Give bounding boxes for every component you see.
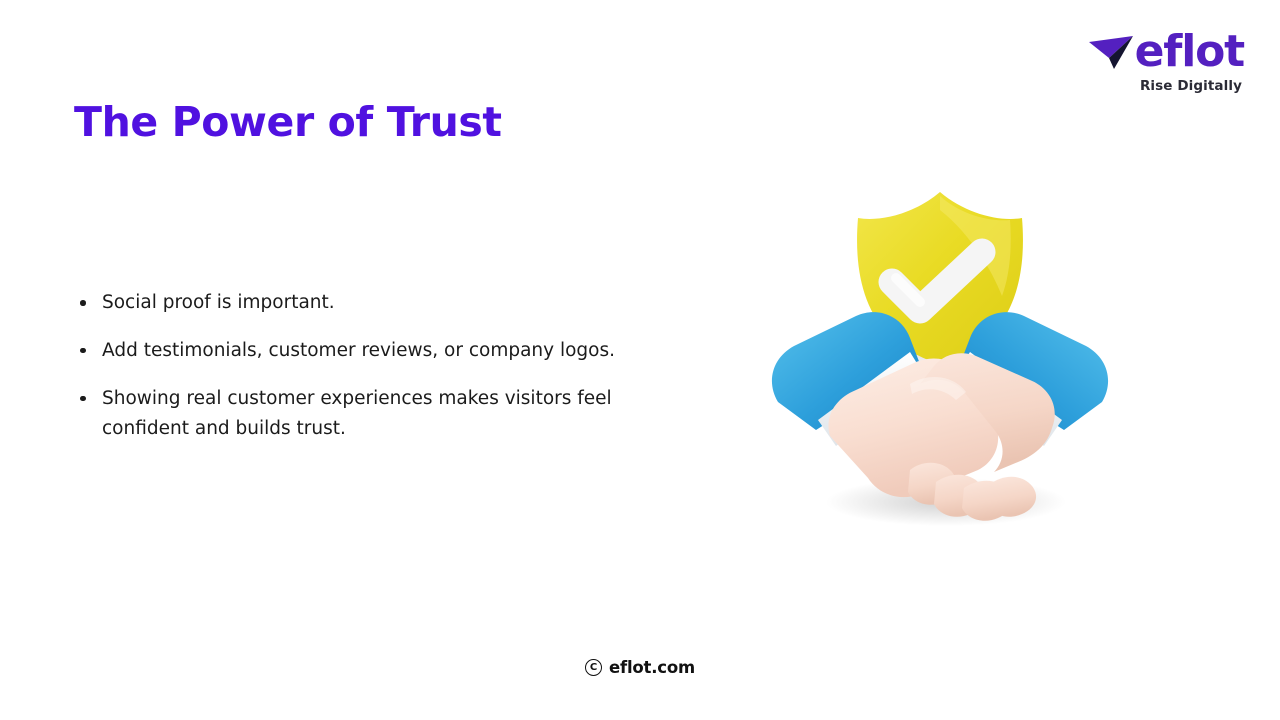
bullet-list: Social proof is important. Add testimoni… — [74, 288, 654, 444]
footer-site: eflot.com — [609, 658, 695, 677]
trust-illustration — [760, 170, 1120, 540]
shield-handshake-illustration — [760, 170, 1120, 540]
footer: C eflot.com — [0, 658, 1280, 677]
paper-plane-icon — [1087, 32, 1139, 72]
logo-tagline: Rise Digitally — [1054, 78, 1244, 94]
copyright-icon: C — [585, 659, 602, 676]
slide-canvas: eflot Rise Digitally The Power of Trust … — [0, 0, 1280, 720]
list-item: Add testimonials, customer reviews, or c… — [74, 336, 654, 366]
logo-wordmark: eflot — [1135, 30, 1244, 74]
logo-row: eflot — [1054, 28, 1244, 76]
brand-logo[interactable]: eflot Rise Digitally — [1054, 28, 1244, 100]
list-item: Social proof is important. — [74, 288, 654, 318]
page-title: The Power of Trust — [74, 99, 502, 146]
list-item: Showing real customer experiences makes … — [74, 384, 654, 444]
